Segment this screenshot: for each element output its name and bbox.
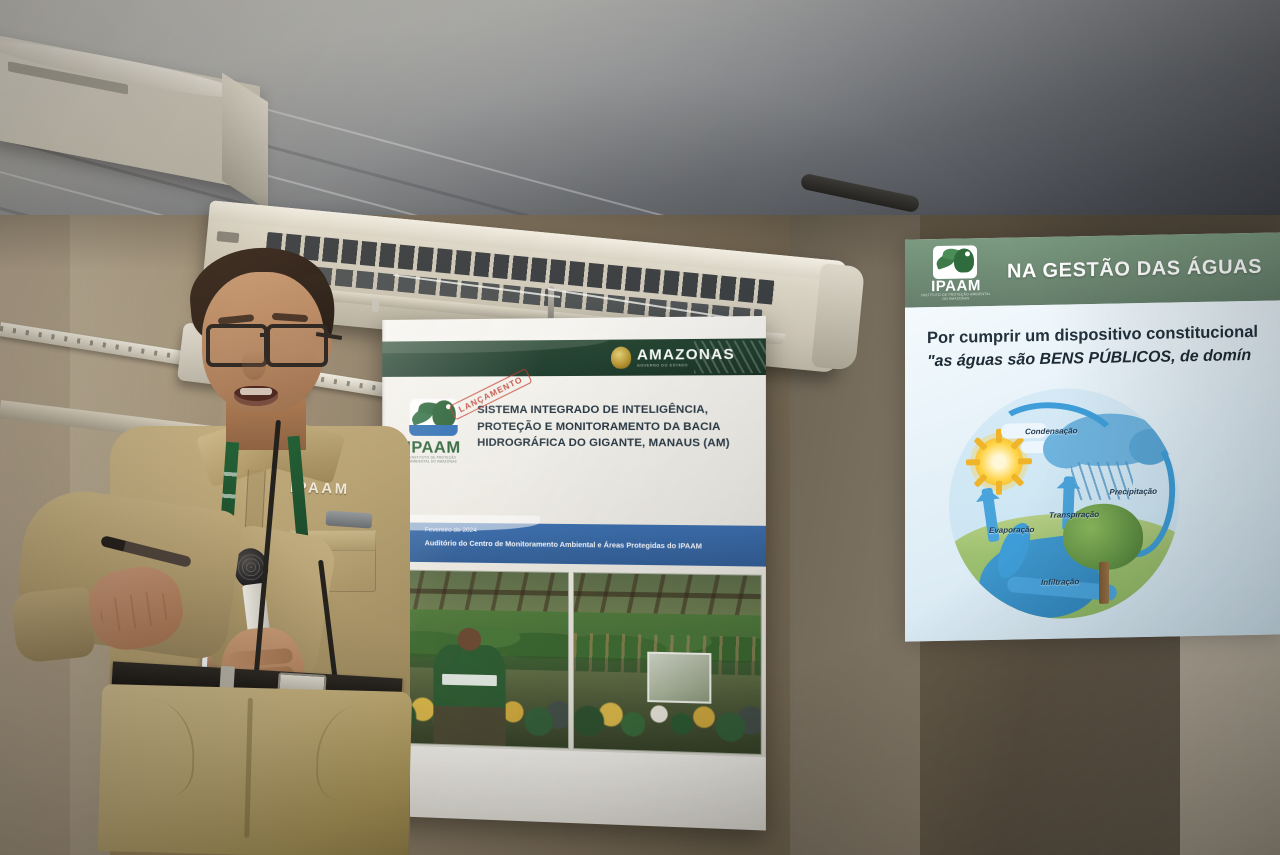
eyeglasses xyxy=(204,322,332,366)
slide-text-line-2: "as águas são BENS PÚBLICOS, de domín xyxy=(927,347,1251,371)
amazonas-crest-icon xyxy=(611,347,631,369)
slide-header: IPAAM INSTITUTO DE PROTEÇÃO AMBIENTAL DO… xyxy=(905,232,1280,307)
presentation-photo-scene: IPAAM INSTITUTO DE PROTEÇÃO AMBIENTAL DO… xyxy=(0,0,1280,855)
slide-body: Por cumprir um dispositivo constituciona… xyxy=(905,300,1280,641)
teeth xyxy=(240,388,272,395)
water-cycle-diagram: Condensação Precipitação Transpiração Ev… xyxy=(949,386,1179,620)
label-evaporacao: Evaporação xyxy=(989,525,1034,535)
slide-text-line-1: Por cumprir um dispositivo constituciona… xyxy=(927,323,1258,348)
tree-trunk xyxy=(1099,562,1109,604)
banner-support-arm xyxy=(548,286,555,322)
banner-photo-row xyxy=(382,565,766,759)
label-transpiracao: Transpiração xyxy=(1049,510,1099,520)
banner-date: Fevereiro de 2024 xyxy=(425,527,477,534)
uniform-patch xyxy=(326,510,373,528)
slide-logo-subtitle: INSTITUTO DE PROTEÇÃO AMBIENTAL DO AMAZO… xyxy=(919,292,993,301)
banner-green-header: AMAZONAS GOVERNO DO ESTADO xyxy=(382,338,766,377)
rollup-banner: AMAZONAS GOVERNO DO ESTADO IPAAM INSTITU… xyxy=(382,316,766,831)
slide-title: NA GESTÃO DAS ÁGUAS xyxy=(1007,255,1262,283)
label-precipitacao: Precipitação xyxy=(1109,487,1157,497)
projection-screen: IPAAM INSTITUTO DE PROTEÇÃO AMBIENTAL DO… xyxy=(905,232,1280,641)
far-right-wall xyxy=(1180,620,1280,855)
ipaam-logo-slide: IPAAM INSTITUTO DE PROTEÇÃO AMBIENTAL DO… xyxy=(919,243,993,302)
nose xyxy=(242,350,266,380)
banner-bottom-white xyxy=(382,745,766,830)
left-sleeve-cuff xyxy=(11,586,96,664)
banner-photo-2 xyxy=(572,572,761,755)
label-infiltracao: Infiltração xyxy=(1041,577,1079,587)
banner-title: SISTEMA INTEGRADO DE INTELIGÊNCIA, PROTE… xyxy=(477,402,756,452)
trousers xyxy=(98,684,412,855)
label-condensacao: Condensação xyxy=(1025,426,1077,436)
